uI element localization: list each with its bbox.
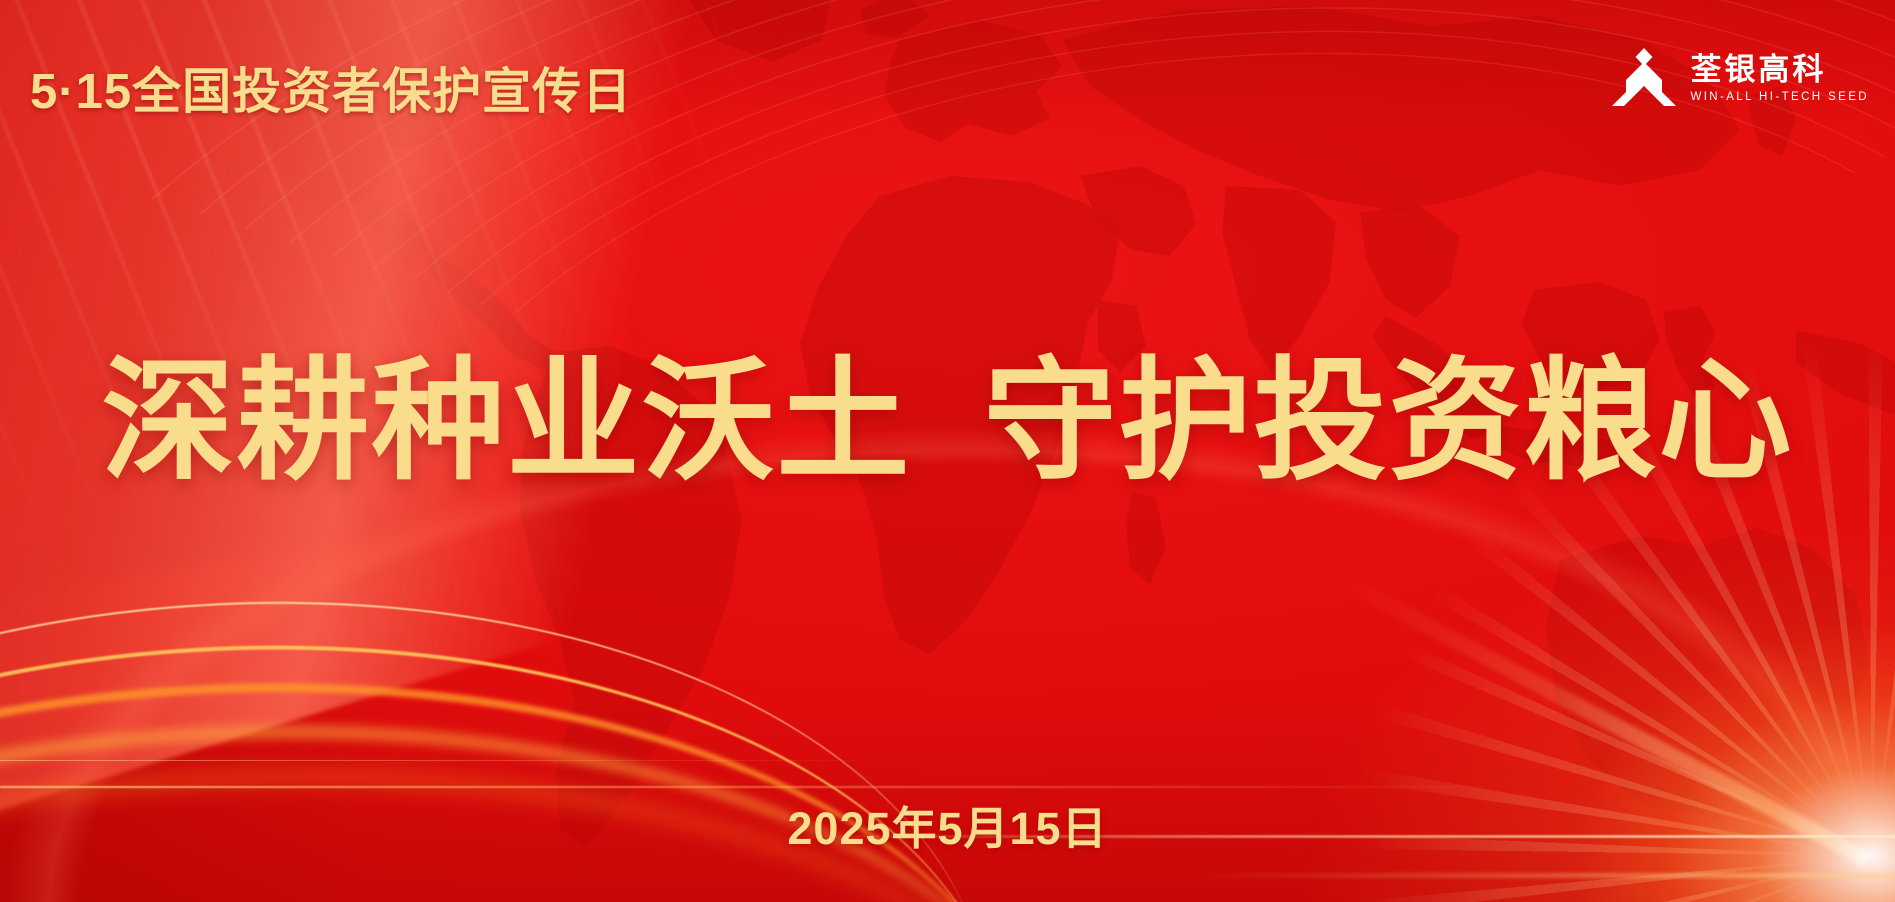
win-all-chevron-seedling-mark [1612,48,1676,110]
campaign-slogan: 5·15全国投资者保护宣传日 [30,52,632,123]
horizontal-light-line-secondary [0,760,900,761]
company-logo: 荃银高科 WIN-ALL HI-TECH SEED [1612,48,1869,110]
headline-part-two: 守护投资粮心 [984,348,1794,496]
headline-part-one: 深耕种业沃土 [102,348,912,496]
logo-text-block: 荃银高科 WIN-ALL HI-TECH SEED [1690,54,1869,104]
logo-company-name-en: WIN-ALL HI-TECH SEED [1690,92,1869,104]
logo-company-name-cn: 荃银高科 [1690,54,1869,85]
main-headline: 深耕种业沃土守护投资粮心 [0,352,1895,493]
event-date: 2025年5月15日 [0,792,1895,857]
horizon-line-secondary [1180,873,1895,878]
horizontal-light-line [0,786,1520,788]
investor-protection-banner: 5·15全国投资者保护宣传日 荃银高科 WIN-ALL HI-TECH SEED… [0,0,1895,902]
